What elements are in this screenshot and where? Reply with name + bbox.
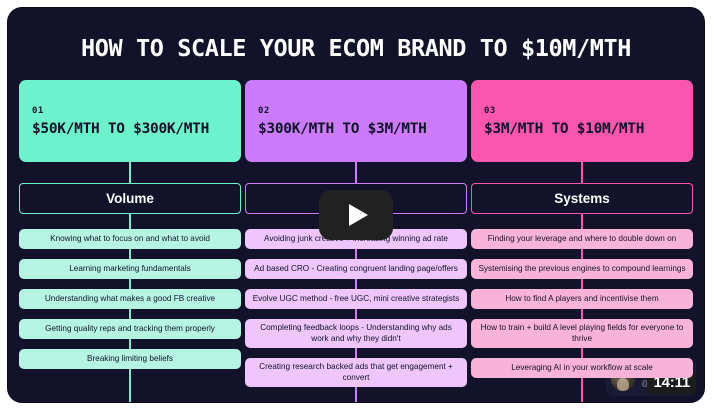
stage-header: 01 $50K/MTH TO $300K/MTH bbox=[19, 80, 241, 162]
category-label: Volume bbox=[19, 183, 241, 214]
list-item: Leveraging AI in your workflow at scale bbox=[471, 358, 693, 378]
page-title: HOW TO SCALE YOUR ECOM BRAND TO $10M/MTH bbox=[8, 34, 704, 62]
stage-column-1: 01 $50K/MTH TO $300K/MTH Volume Knowing … bbox=[19, 80, 241, 379]
stage-column-3: 03 $3M/MTH TO $10M/MTH Systems Finding y… bbox=[471, 80, 693, 388]
stage-revenue-range: $50K/MTH TO $300K/MTH bbox=[32, 121, 241, 137]
video-frame: HOW TO SCALE YOUR ECOM BRAND TO $10M/MTH… bbox=[8, 8, 704, 402]
list-item: Breaking limiting beliefs bbox=[19, 349, 241, 369]
stage-revenue-range: $300K/MTH TO $3M/MTH bbox=[258, 121, 467, 137]
stage-number: 02 bbox=[258, 106, 467, 116]
play-icon bbox=[349, 204, 368, 226]
list-item: Completing feedback loops - Understandin… bbox=[245, 319, 467, 348]
stage-revenue-range: $3M/MTH TO $10M/MTH bbox=[484, 121, 693, 137]
stage-header: 03 $3M/MTH TO $10M/MTH bbox=[471, 80, 693, 162]
list-item: Finding your leverage and where to doubl… bbox=[471, 229, 693, 249]
play-button[interactable] bbox=[319, 190, 393, 240]
list-item: Creating research backed ads that get en… bbox=[245, 358, 467, 387]
list-item: Learning marketing fundamentals bbox=[19, 259, 241, 279]
stage-header: 02 $300K/MTH TO $3M/MTH bbox=[245, 80, 467, 162]
list-item: Ad based CRO - Creating congruent landin… bbox=[245, 259, 467, 279]
list-item: Getting quality reps and tracking them p… bbox=[19, 319, 241, 339]
list-item: How to find A players and incentivise th… bbox=[471, 289, 693, 309]
stage-number: 03 bbox=[484, 106, 693, 116]
list-item: How to train + build A level playing fie… bbox=[471, 319, 693, 348]
stage-number: 01 bbox=[32, 106, 241, 116]
category-label: Systems bbox=[471, 183, 693, 214]
list-item: Systemising the previous engines to comp… bbox=[471, 259, 693, 279]
list-item: Knowing what to focus on and what to avo… bbox=[19, 229, 241, 249]
video-player[interactable]: HOW TO SCALE YOUR ECOM BRAND TO $10M/MTH… bbox=[0, 0, 712, 410]
list-item: Evolve UGC method - free UGC, mini creat… bbox=[245, 289, 467, 309]
list-item: Understanding what makes a good FB creat… bbox=[19, 289, 241, 309]
